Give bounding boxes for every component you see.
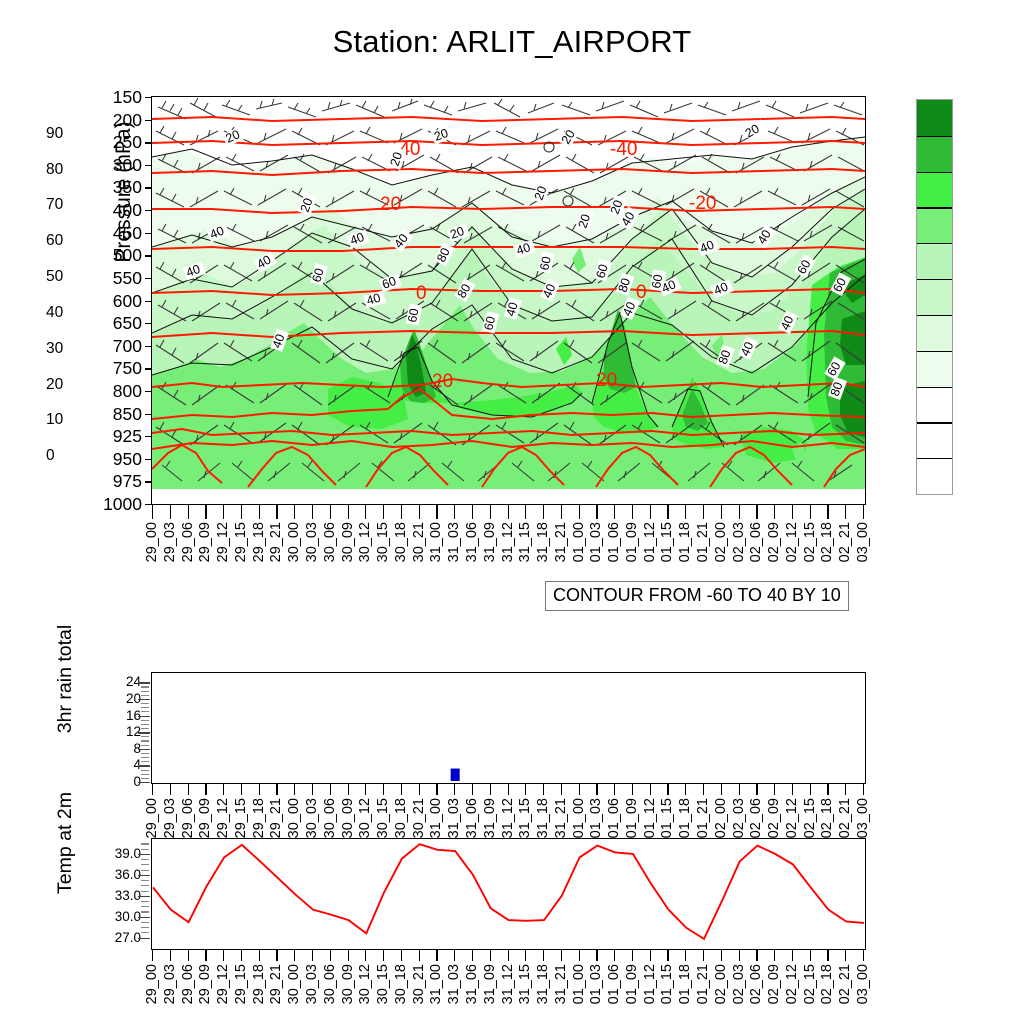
main-y-tick: 925 — [82, 426, 142, 447]
rain-y-tickmark — [138, 732, 150, 733]
x-tickmark — [436, 950, 437, 961]
temp-y-minor-tick — [141, 859, 149, 860]
x-tickmark — [330, 505, 331, 519]
rain-y-tick: 0 — [103, 774, 141, 789]
x-tickmark — [205, 505, 206, 519]
x-tick-label: 02_12 — [784, 964, 800, 1004]
x-tick-label: 30_03 — [304, 964, 320, 1004]
x-tick-label: 02_21 — [837, 964, 853, 1004]
x-tick-label: 02_15 — [802, 522, 818, 562]
x-tick-label: 29_21 — [268, 522, 284, 562]
x-tickmark — [490, 505, 491, 519]
temp-y-minor-tick — [141, 922, 149, 923]
x-tickmark — [703, 505, 704, 519]
x-tick-label: 29_09 — [197, 798, 213, 838]
x-tick-label: 29_00 — [144, 522, 160, 562]
rain-y-minor-tick — [141, 753, 149, 754]
x-tick-label: 31_06 — [464, 798, 480, 838]
x-tick-label: 01_12 — [642, 522, 658, 562]
x-tickmark — [294, 505, 295, 519]
x-tick-label: 02_06 — [748, 964, 764, 1004]
colorbar-label: 90 — [46, 125, 63, 143]
x-tickmark — [205, 950, 206, 961]
x-tick-label: 30_06 — [322, 964, 338, 1004]
colorbar-band — [917, 387, 952, 423]
rain-y-minor-tick — [141, 757, 149, 758]
x-tickmark — [543, 505, 544, 519]
x-tickmark — [721, 950, 722, 961]
x-tickmark — [383, 950, 384, 961]
temp-y-tickmark — [138, 875, 150, 876]
x-tickmark — [436, 505, 437, 519]
x-tickmark — [810, 784, 811, 795]
x-tickmark — [756, 950, 757, 961]
x-tickmark — [579, 505, 580, 519]
rain-y-tickmark — [138, 682, 150, 683]
main-y-tick: 800 — [82, 381, 142, 402]
x-tick-label: 31_06 — [464, 964, 480, 1004]
rain-y-tick: 24 — [103, 674, 141, 689]
main-y-tick: 350 — [82, 177, 142, 198]
x-tickmark — [579, 950, 580, 961]
x-tickmark — [685, 784, 686, 795]
x-tick-label: 30_03 — [304, 798, 320, 838]
x-tick-label: 01_06 — [606, 964, 622, 1004]
rain-y-tick: 16 — [103, 708, 141, 723]
x-tickmark — [188, 784, 189, 795]
x-tick-label: 29_15 — [233, 964, 249, 1004]
x-tick-label: 02_00 — [713, 798, 729, 838]
x-tick-label: 31_12 — [500, 798, 516, 838]
main-y-tick: 975 — [82, 471, 142, 492]
x-tickmark — [330, 950, 331, 961]
x-tick-label: 01_03 — [588, 964, 604, 1004]
x-tick-label: 02_15 — [802, 964, 818, 1004]
x-tickmark — [614, 505, 615, 519]
x-tickmark — [188, 950, 189, 961]
x-tickmark — [845, 950, 846, 961]
colorbar-separator — [917, 136, 952, 137]
main-y-tick: 150 — [82, 87, 142, 108]
x-tick-label: 30_00 — [286, 964, 302, 1004]
temp-contour-label-0a: 0 — [416, 283, 427, 304]
x-tick-label: 02_12 — [784, 798, 800, 838]
x-tick-label: 02_09 — [766, 964, 782, 1004]
rain-y-tickmark — [138, 699, 150, 700]
x-tickmark — [863, 784, 864, 795]
x-tickmark — [721, 784, 722, 795]
x-tickmark — [596, 784, 597, 795]
main-y-tick: 850 — [82, 404, 142, 425]
x-tick-label: 02_12 — [784, 522, 800, 562]
rain-y-tickmark — [138, 749, 150, 750]
svg-text:60: 60 — [649, 273, 665, 289]
x-tick-label: 30_15 — [375, 798, 391, 838]
temp-y-minor-tick — [141, 880, 149, 881]
colorbar-separator — [917, 172, 952, 173]
x-tick-label: 30_06 — [322, 798, 338, 838]
x-tickmark — [739, 950, 740, 961]
colorbar-separator — [917, 387, 952, 388]
x-tickmark — [792, 784, 793, 795]
x-tickmark — [383, 784, 384, 795]
x-tickmark — [152, 784, 153, 795]
x-tick-label: 30_15 — [375, 522, 391, 562]
x-tick-label: 31_00 — [428, 522, 444, 562]
x-tick-label: 01_12 — [642, 798, 658, 838]
x-tick-label: 30_00 — [286, 798, 302, 838]
svg-text:60: 60 — [405, 307, 421, 323]
x-tickmark — [401, 784, 402, 795]
temp-y-tickmark — [138, 917, 150, 918]
x-tick-label: 31_18 — [535, 798, 551, 838]
x-tickmark — [419, 950, 420, 961]
colorbar-separator — [917, 243, 952, 244]
x-tickmark — [685, 950, 686, 961]
x-tick-label: 03_00 — [855, 522, 871, 562]
x-tick-label: 30_09 — [340, 798, 356, 838]
rain-y-minor-tick — [141, 740, 149, 741]
x-tickmark — [650, 505, 651, 519]
x-tick-label: 02_03 — [731, 522, 747, 562]
x-tick-label: 29_00 — [144, 964, 160, 1004]
temp-y-tickmark — [138, 896, 150, 897]
x-tickmark — [525, 950, 526, 961]
main-y-tick: 500 — [82, 245, 142, 266]
temp-y-minor-tick — [141, 843, 149, 844]
x-tickmark — [685, 505, 686, 519]
x-tickmark — [436, 784, 437, 795]
x-tickmark — [543, 950, 544, 961]
rain-y-minor-tick — [141, 686, 149, 687]
x-tickmark — [223, 505, 224, 519]
x-tickmark — [276, 505, 277, 519]
x-tick-label: 02_03 — [731, 798, 747, 838]
x-tickmark — [401, 950, 402, 961]
x-tickmark — [827, 505, 828, 519]
rain-y-minor-tick — [141, 724, 149, 725]
main-y-tick: 1000 — [82, 494, 142, 515]
x-tickmark — [561, 505, 562, 519]
x-tick-label: 03_00 — [855, 798, 871, 838]
rain-y-minor-tick — [141, 778, 149, 779]
x-tickmark — [348, 950, 349, 961]
temp-y-minor-tick — [141, 901, 149, 902]
temp-y-minor-tick — [141, 927, 149, 928]
x-tickmark — [490, 950, 491, 961]
x-tickmark — [294, 784, 295, 795]
x-tickmark — [756, 784, 757, 795]
x-tick-label: 01_21 — [695, 798, 711, 838]
x-tickmark — [845, 784, 846, 795]
temp-panel-y-axis-label: Temp at 2m — [54, 758, 76, 928]
colorbar-separator — [917, 458, 952, 459]
x-tick-label: 01_18 — [677, 798, 693, 838]
x-tick-label: 29_09 — [197, 964, 213, 1004]
x-tick-label: 01_15 — [659, 798, 675, 838]
x-tick-label: 30_03 — [304, 522, 320, 562]
x-tickmark — [739, 505, 740, 519]
x-tick-label: 01_03 — [588, 798, 604, 838]
x-tick-label: 01_18 — [677, 522, 693, 562]
colorbar-band — [917, 422, 952, 458]
rain-bars — [451, 769, 460, 781]
x-tickmark — [401, 505, 402, 519]
colorbar-band — [917, 172, 952, 208]
x-tickmark — [632, 505, 633, 519]
rain-panel-y-axis-label: 3hr rain total — [54, 591, 76, 767]
colorbar-label: 70 — [46, 196, 63, 214]
x-tick-label: 01_18 — [677, 964, 693, 1004]
page-title: Station: ARLIT_AIRPORT — [0, 24, 1024, 60]
x-tick-label: 29_18 — [251, 964, 267, 1004]
colorbar-label: 40 — [46, 304, 63, 322]
colorbar-label: 0 — [46, 447, 55, 465]
x-tick-label: 03_00 — [855, 964, 871, 1004]
x-tick-label: 30_09 — [340, 964, 356, 1004]
contour-plot-canvas: -40 -40 20 -20 0 0 20 20 20 20 20 20 20 … — [152, 97, 865, 504]
x-tick-label: 31_03 — [446, 964, 462, 1004]
x-tick-label: 31_03 — [446, 522, 462, 562]
x-tick-label: 01_06 — [606, 522, 622, 562]
colorbar-band — [917, 315, 952, 351]
x-tick-label: 02_18 — [819, 964, 835, 1004]
x-tickmark — [756, 505, 757, 519]
x-tickmark — [223, 784, 224, 795]
x-tickmark — [579, 784, 580, 795]
colorbar-separator — [917, 279, 952, 280]
x-tick-label: 30_18 — [393, 964, 409, 1004]
x-tick-label: 29_06 — [180, 522, 196, 562]
x-tick-label: 30_12 — [357, 964, 373, 1004]
main-y-tick: 200 — [82, 110, 142, 131]
main-y-tick: 950 — [82, 449, 142, 470]
x-tick-label: 29_18 — [251, 798, 267, 838]
x-tick-label: 31_03 — [446, 798, 462, 838]
x-tickmark — [276, 950, 277, 961]
x-tick-label: 02_09 — [766, 798, 782, 838]
x-tick-label: 29_06 — [180, 798, 196, 838]
rain-y-tick: 4 — [103, 757, 141, 772]
x-tickmark — [827, 950, 828, 961]
rain-y-tick: 20 — [103, 691, 141, 706]
x-tickmark — [170, 784, 171, 795]
x-tickmark — [632, 784, 633, 795]
x-tick-label: 29_12 — [215, 522, 231, 562]
x-tick-label: 29_15 — [233, 798, 249, 838]
temp-y-tick: 39.0 — [93, 846, 141, 861]
rain-y-minor-tick — [141, 711, 149, 712]
x-tick-label: 30_06 — [322, 522, 338, 562]
x-tick-label: 01_21 — [695, 964, 711, 1004]
rain-y-minor-tick — [141, 774, 149, 775]
x-tickmark — [543, 784, 544, 795]
x-tick-label: 30_12 — [357, 798, 373, 838]
x-tick-label: 01_03 — [588, 522, 604, 562]
colorbar-band — [917, 136, 952, 172]
rain-y-tickmark — [138, 782, 150, 783]
x-tick-label: 29_03 — [162, 522, 178, 562]
x-tickmark — [703, 950, 704, 961]
x-tick-label: 30_00 — [286, 522, 302, 562]
colorbar-label: 10 — [46, 411, 63, 429]
x-tick-label: 31_00 — [428, 798, 444, 838]
x-tick-label: 02_09 — [766, 522, 782, 562]
x-tick-label: 31_00 — [428, 964, 444, 1004]
x-tickmark — [170, 950, 171, 961]
x-tickmark — [472, 784, 473, 795]
x-tickmark — [472, 950, 473, 961]
x-tickmark — [667, 784, 668, 795]
rain-total-plot[interactable] — [151, 672, 866, 784]
x-tickmark — [827, 784, 828, 795]
x-tickmark — [703, 784, 704, 795]
x-tick-label: 29_00 — [144, 798, 160, 838]
rain-y-tickmark — [138, 765, 150, 766]
x-tick-label: 31_15 — [517, 798, 533, 838]
x-tick-label: 31_21 — [553, 964, 569, 1004]
x-tickmark — [348, 784, 349, 795]
x-tick-label: 30_21 — [411, 522, 427, 562]
x-tickmark — [188, 505, 189, 519]
colorbar-band — [917, 279, 952, 315]
temp-y-minor-tick — [141, 932, 149, 933]
x-tick-label: 01_09 — [624, 522, 640, 562]
x-tickmark — [294, 950, 295, 961]
colorbar-band — [917, 351, 952, 387]
temp-line-canvas — [152, 839, 865, 949]
x-tick-label: 01_09 — [624, 964, 640, 1004]
x-tick-label: 31_06 — [464, 522, 480, 562]
x-tickmark — [276, 784, 277, 795]
rain-y-minor-tick — [141, 703, 149, 704]
x-tick-label: 31_09 — [482, 964, 498, 1004]
temp-y-tick: 30.0 — [93, 909, 141, 924]
x-tickmark — [845, 505, 846, 519]
x-tickmark — [810, 505, 811, 519]
x-tick-label: 02_00 — [713, 964, 729, 1004]
temperature-plot[interactable] — [151, 838, 866, 950]
svg-text:60: 60 — [537, 255, 554, 272]
x-tickmark — [525, 505, 526, 519]
rain-bar-canvas — [152, 673, 865, 783]
x-tickmark — [650, 784, 651, 795]
main-y-tick: 650 — [82, 313, 142, 334]
colorbar-label: 80 — [46, 161, 63, 179]
x-tickmark — [721, 505, 722, 519]
x-tick-label: 29_12 — [215, 798, 231, 838]
rain-y-minor-tick — [141, 707, 149, 708]
x-tickmark — [170, 505, 171, 519]
main-y-tick: 400 — [82, 200, 142, 221]
x-tickmark — [454, 950, 455, 961]
x-tick-label: 02_18 — [819, 522, 835, 562]
main-y-tick: 250 — [82, 132, 142, 153]
rain-y-minor-tick — [141, 691, 149, 692]
x-tick-label: 01_00 — [571, 964, 587, 1004]
x-tick-label: 02_03 — [731, 964, 747, 1004]
temp-y-tick: 27.0 — [93, 930, 141, 945]
x-tickmark — [241, 505, 242, 519]
x-tickmark — [774, 950, 775, 961]
humidity-colorbar — [916, 99, 953, 495]
x-tick-label: 02_18 — [819, 798, 835, 838]
x-tick-label: 31_21 — [553, 522, 569, 562]
temp-y-minor-tick — [141, 885, 149, 886]
x-tick-label: 29_06 — [180, 964, 196, 1004]
rain-bar — [451, 769, 460, 781]
x-tickmark — [508, 505, 509, 519]
x-tickmark — [490, 784, 491, 795]
main-y-tick: 750 — [82, 358, 142, 379]
x-tick-label: 01_00 — [571, 798, 587, 838]
temp-y-tickmark — [138, 938, 150, 939]
rain-y-minor-tick — [141, 770, 149, 771]
main-y-tick: 300 — [82, 155, 142, 176]
x-tickmark — [792, 505, 793, 519]
temp-contour-label-20a: 20 — [380, 194, 401, 215]
x-tickmark — [454, 505, 455, 519]
main-y-tick: 700 — [82, 336, 142, 357]
x-tick-label: 31_09 — [482, 798, 498, 838]
rain-y-minor-tick — [141, 745, 149, 746]
x-tickmark — [454, 784, 455, 795]
x-tickmark — [330, 784, 331, 795]
temp-y-tick: 33.0 — [93, 888, 141, 903]
x-tick-label: 31_21 — [553, 798, 569, 838]
x-tick-label: 29_03 — [162, 964, 178, 1004]
x-tickmark — [152, 505, 153, 519]
x-tick-label: 30_15 — [375, 964, 391, 1004]
temp-y-minor-tick — [141, 891, 149, 892]
x-tickmark — [525, 784, 526, 795]
colorbar-label: 20 — [46, 376, 63, 394]
x-tickmark — [792, 950, 793, 961]
x-tickmark — [365, 950, 366, 961]
x-tick-label: 30_21 — [411, 964, 427, 1004]
x-tickmark — [667, 950, 668, 961]
x-tick-label: 31_18 — [535, 522, 551, 562]
x-tickmark — [810, 950, 811, 961]
x-tick-label: 29_12 — [215, 964, 231, 1004]
x-tick-label: 29_18 — [251, 522, 267, 562]
x-tickmark — [383, 505, 384, 519]
rain-y-minor-tick — [141, 720, 149, 721]
colorbar-separator — [917, 207, 952, 208]
time-height-humidity-plot[interactable]: -40 -40 20 -20 0 0 20 20 20 20 20 20 20 … — [151, 96, 866, 505]
colorbar-band — [917, 243, 952, 279]
rain-y-minor-tick — [141, 761, 149, 762]
main-y-tick: 600 — [82, 291, 142, 312]
x-tick-label: 30_09 — [340, 522, 356, 562]
rain-y-minor-tick — [141, 728, 149, 729]
x-tickmark — [259, 784, 260, 795]
x-tickmark — [632, 950, 633, 961]
x-tickmark — [152, 950, 153, 961]
x-tickmark — [223, 950, 224, 961]
x-tick-label: 29_09 — [197, 522, 213, 562]
x-tick-label: 31_18 — [535, 964, 551, 1004]
x-tickmark — [596, 950, 597, 961]
x-tickmark — [259, 950, 260, 961]
x-tick-label: 31_12 — [500, 522, 516, 562]
colorbar-separator — [917, 315, 952, 316]
x-tickmark — [667, 505, 668, 519]
temp-contour-label-minus20b: -20 — [689, 193, 716, 214]
colorbar-separator — [917, 422, 952, 423]
colorbar-band — [917, 458, 952, 494]
x-tickmark — [508, 784, 509, 795]
